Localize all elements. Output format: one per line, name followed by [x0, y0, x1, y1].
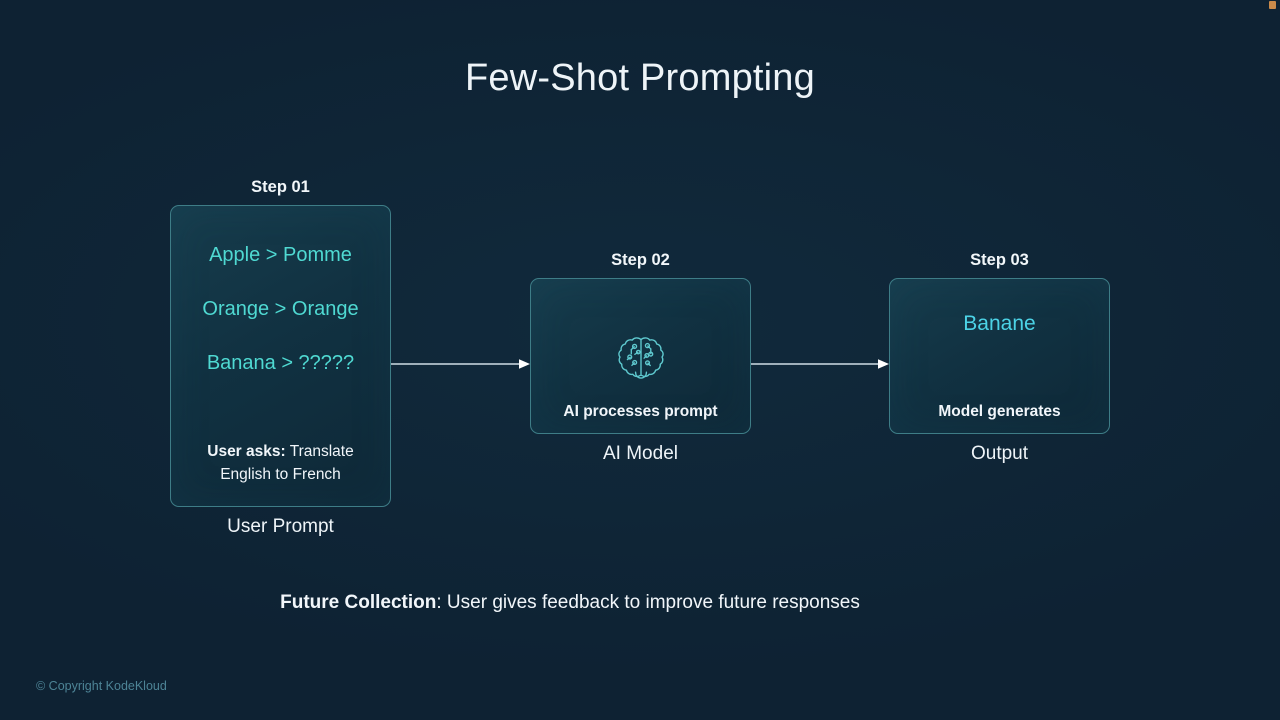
example-line-3: Banana > ????? — [171, 336, 390, 390]
caption-output: Output — [889, 443, 1110, 465]
example-line-2: Orange > Orange — [171, 282, 390, 336]
future-collection-label: Future Collection — [280, 592, 436, 613]
future-collection-text: : User gives feedback to improve future … — [436, 592, 859, 613]
future-collection-note: Future Collection: User gives feedback t… — [0, 592, 1140, 614]
example-line-1: Apple > Pomme — [171, 228, 390, 282]
step-group-user-prompt: Step 01 Apple > Pomme Orange > Orange Ba… — [170, 178, 391, 538]
caption-ai-model: AI Model — [530, 443, 751, 465]
step-group-output: Step 03 Banane Model generates Output — [889, 251, 1110, 465]
page-title: Few-Shot Prompting — [0, 57, 1280, 100]
step-label-02: Step 02 — [530, 251, 751, 270]
user-prompt-card[interactable]: Apple > Pomme Orange > Orange Banana > ?… — [170, 205, 391, 507]
user-ask-label: User asks: — [207, 443, 285, 460]
output-inner-note: Model generates — [890, 403, 1109, 421]
arrow-model-to-output — [751, 359, 889, 369]
step-label-03: Step 03 — [889, 251, 1110, 270]
caption-user-prompt: User Prompt — [170, 516, 391, 538]
step-group-ai-model: Step 02 — [530, 251, 751, 465]
brain-icon — [612, 330, 670, 393]
copyright-text: © Copyright KodeKloud — [36, 679, 167, 693]
user-ask-text: User asks: Translate English to French — [185, 441, 376, 487]
arrow-prompt-to-model — [391, 359, 530, 369]
step-label-01: Step 01 — [170, 178, 391, 197]
ai-model-card[interactable]: AI processes prompt — [530, 278, 751, 434]
corner-marker-dot — [1269, 1, 1276, 9]
slide-canvas: Few-Shot Prompting Step 01 Apple > Pomme… — [0, 0, 1280, 720]
output-value: Banane — [963, 312, 1035, 336]
output-card[interactable]: Banane Model generates — [889, 278, 1110, 434]
ai-model-inner-note: AI processes prompt — [531, 403, 750, 421]
